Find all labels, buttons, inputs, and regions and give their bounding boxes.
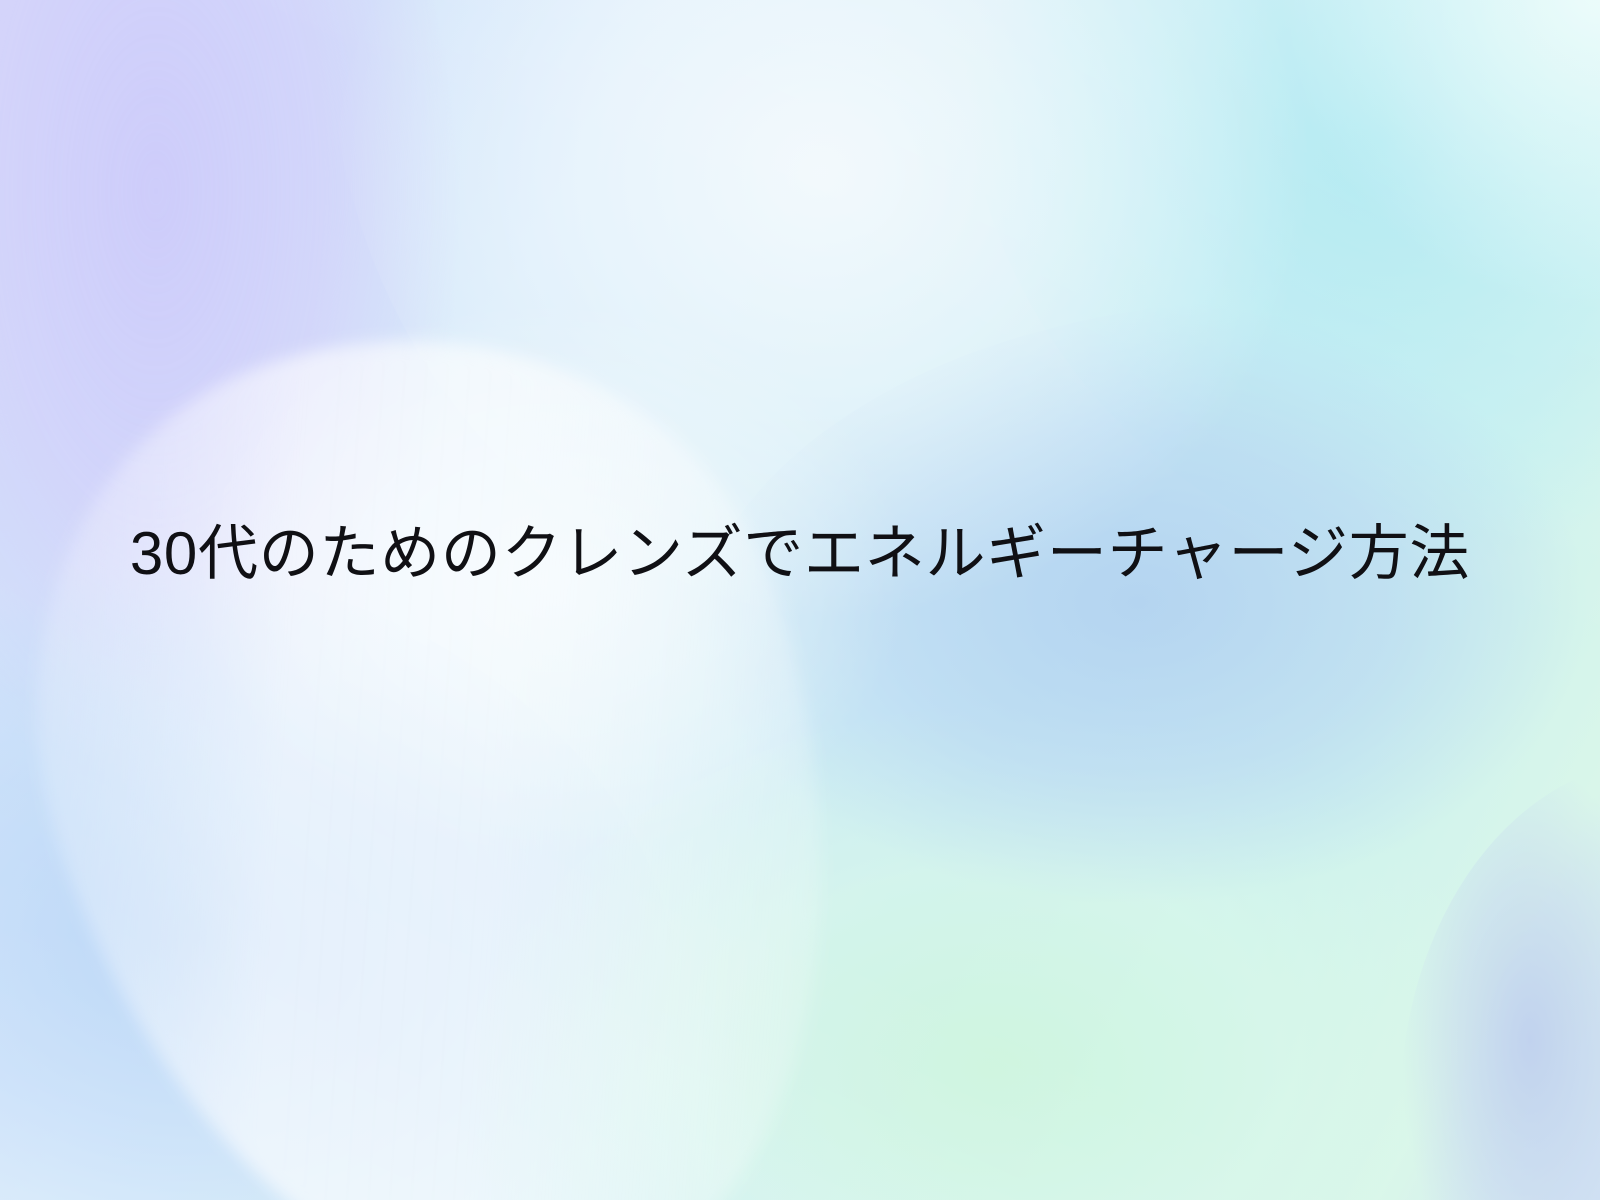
presentation-slide: 30代のためのクレンズでエネルギーチャージ方法 xyxy=(0,0,1600,1200)
background-blob-mint-corner xyxy=(1280,0,1600,310)
background-blob-mint-bottom xyxy=(460,700,1600,1200)
background-blob-blue-oval xyxy=(690,300,1600,1020)
background-sheen-overlay xyxy=(0,0,1600,1200)
background-blob-lavender xyxy=(0,0,460,950)
background-base-gradient xyxy=(0,0,1600,1200)
background-blob-blue-left xyxy=(0,560,680,1200)
slide-title-block: 30代のためのクレンズでエネルギーチャージ方法 xyxy=(0,516,1600,591)
background-blob-white-streak xyxy=(0,237,963,1200)
page-title: 30代のためのクレンズでエネルギーチャージ方法 xyxy=(130,516,1470,591)
background-blob-edge-right xyxy=(1400,760,1600,1200)
background-blob-aqua xyxy=(960,0,1600,580)
